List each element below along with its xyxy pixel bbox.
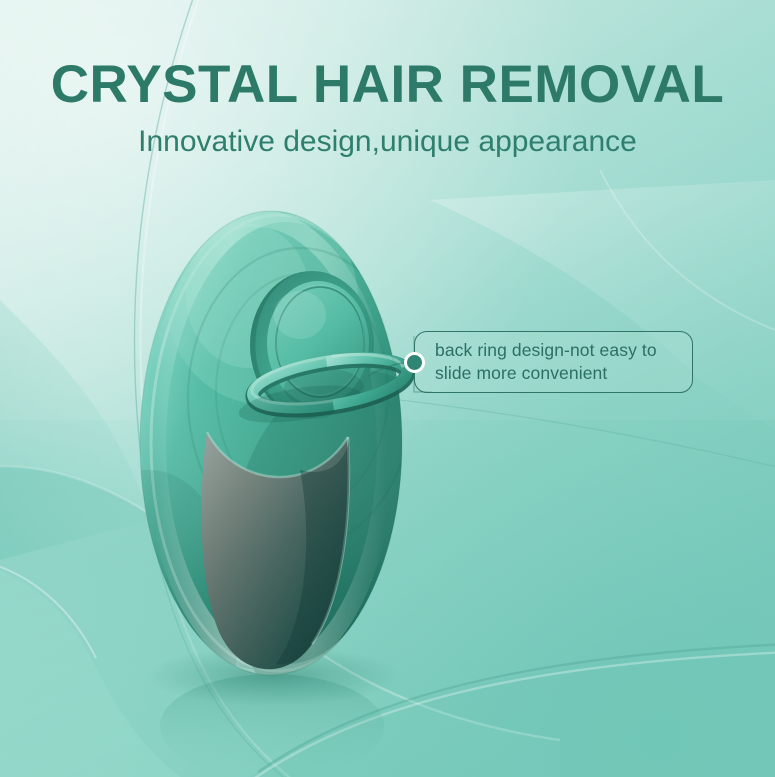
headline-block: CRYSTAL HAIR REMOVAL Innovative design,u…	[0, 58, 775, 158]
dot-marker-icon	[404, 352, 425, 373]
page-subtitle: Innovative design,unique appearance	[0, 126, 775, 158]
feature-callout-text: back ring design-not easy to slide more …	[415, 339, 692, 385]
feature-callout: back ring design-not easy to slide more …	[414, 331, 693, 393]
page-title: CRYSTAL HAIR REMOVAL	[0, 58, 775, 112]
product-banner: CRYSTAL HAIR REMOVAL Innovative design,u…	[0, 0, 775, 777]
